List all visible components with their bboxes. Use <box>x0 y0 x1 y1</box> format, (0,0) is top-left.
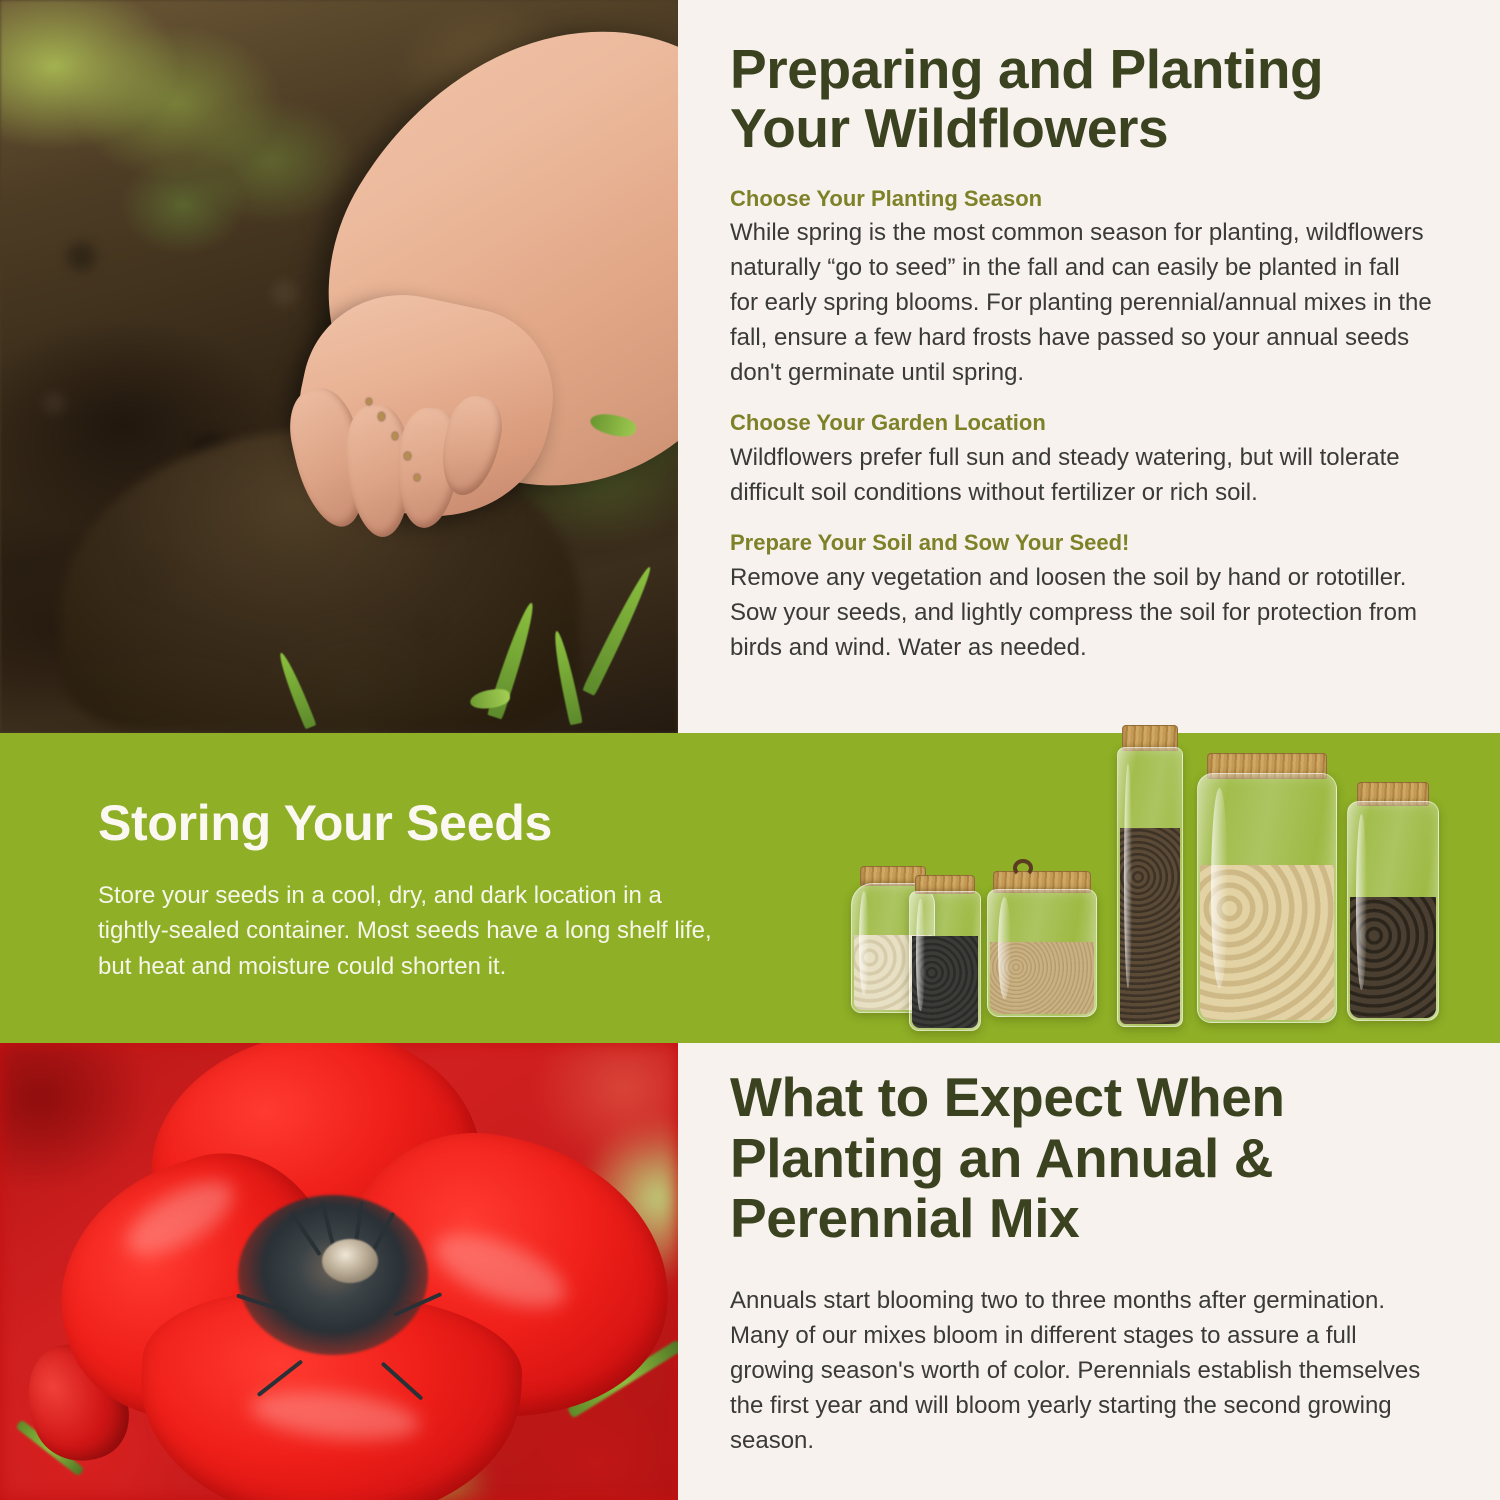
section-preparing-planting: Preparing and Planting Your Wildflowers … <box>0 0 1500 733</box>
infographic-page: Preparing and Planting Your Wildflowers … <box>0 0 1500 1500</box>
poppy-flower-photo <box>0 1043 678 1500</box>
block-planting-season: Choose Your Planting Season While spring… <box>730 185 1432 391</box>
seed-jars-photo <box>845 745 1465 1035</box>
subheading-prepare-soil: Prepare Your Soil and Sow Your Seed! <box>730 529 1432 557</box>
subheading-planting-season: Choose Your Planting Season <box>730 185 1432 213</box>
storing-title: Storing Your Seeds <box>98 797 738 850</box>
glass-highlight <box>1211 788 1228 988</box>
seed <box>366 398 372 405</box>
planting-text-panel: Preparing and Planting Your Wildflowers … <box>678 0 1500 733</box>
jar-pumpkin-seeds <box>1197 773 1337 1023</box>
seed <box>404 452 411 460</box>
glass-highlight <box>1124 764 1132 988</box>
seed <box>378 412 385 421</box>
section-storing-seeds: Storing Your Seeds Store your seeds in a… <box>0 733 1500 1043</box>
expect-text-panel: What to Expect When Planting an Annual &… <box>678 1043 1500 1500</box>
storing-body: Store your seeds in a cool, dry, and dar… <box>98 878 738 985</box>
poppy-ovary <box>322 1239 378 1283</box>
storing-text-panel: Storing Your Seeds Store your seeds in a… <box>98 797 738 984</box>
section-what-to-expect: What to Expect When Planting an Annual &… <box>0 1043 1500 1500</box>
page-title: Preparing and Planting Your Wildflowers <box>730 40 1432 159</box>
jar-black-seeds <box>909 891 981 1031</box>
seed <box>414 474 420 481</box>
seed <box>392 432 398 440</box>
jar-handle-loop <box>1013 859 1033 877</box>
jar-fine-tan-seeds <box>987 889 1097 1017</box>
body-planting-season: While spring is the most common season f… <box>730 215 1432 390</box>
body-garden-location: Wildflowers prefer full sun and steady w… <box>730 440 1432 510</box>
jar-tall-dark-seeds <box>1117 747 1183 1027</box>
block-garden-location: Choose Your Garden Location Wildflowers … <box>730 409 1432 510</box>
block-prepare-soil: Prepare Your Soil and Sow Your Seed! Rem… <box>730 529 1432 665</box>
subheading-garden-location: Choose Your Garden Location <box>730 409 1432 437</box>
body-prepare-soil: Remove any vegetation and loosen the soi… <box>730 560 1432 665</box>
soil-planting-photo <box>0 0 678 733</box>
expect-body: Annuals start blooming two to three mont… <box>730 1283 1432 1458</box>
glass-highlight <box>916 899 925 1011</box>
expect-title: What to Expect When Planting an Annual &… <box>730 1067 1432 1249</box>
jar-sunflower-seeds <box>1347 801 1439 1021</box>
